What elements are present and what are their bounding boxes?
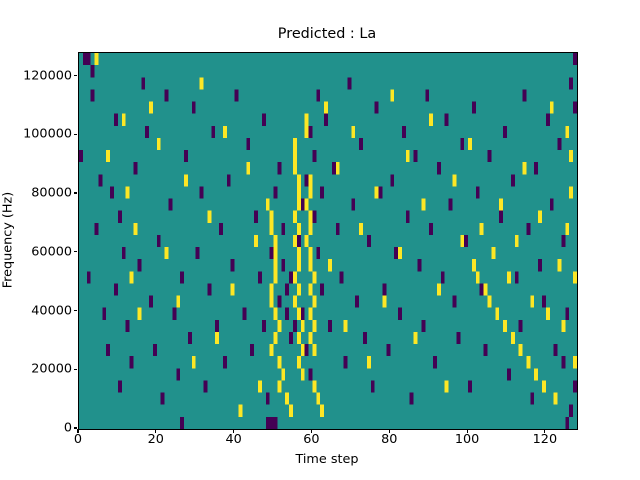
y-tick-mark: [74, 75, 78, 76]
x-tick-label: 80: [381, 432, 397, 447]
x-tick-label: 0: [74, 432, 82, 447]
y-axis-label: Frequency (Hz): [1, 192, 16, 289]
y-tick-mark: [74, 134, 78, 135]
x-tick-label: 20: [148, 432, 164, 447]
heatmap-image: [79, 53, 577, 429]
x-axis-label: Time step: [78, 452, 576, 467]
y-tick-mark: [74, 369, 78, 370]
figure-canvas: Predicted : La 020406080100120 020000400…: [0, 0, 640, 480]
x-tick-label: 100: [455, 432, 479, 447]
heatmap-axes: [78, 52, 578, 430]
y-tick-mark: [74, 310, 78, 311]
y-tick-mark: [74, 192, 78, 193]
page-title: Predicted : La: [78, 26, 576, 43]
y-tick-label-wrap: 0: [0, 428, 72, 443]
y-tick-mark: [74, 427, 78, 428]
x-tick-label: 60: [303, 432, 319, 447]
x-tick-label: 120: [533, 432, 557, 447]
y-tick-mark: [74, 251, 78, 252]
y-axis-label-container: Frequency (Hz): [0, 52, 16, 428]
x-tick-label: 40: [225, 432, 241, 447]
